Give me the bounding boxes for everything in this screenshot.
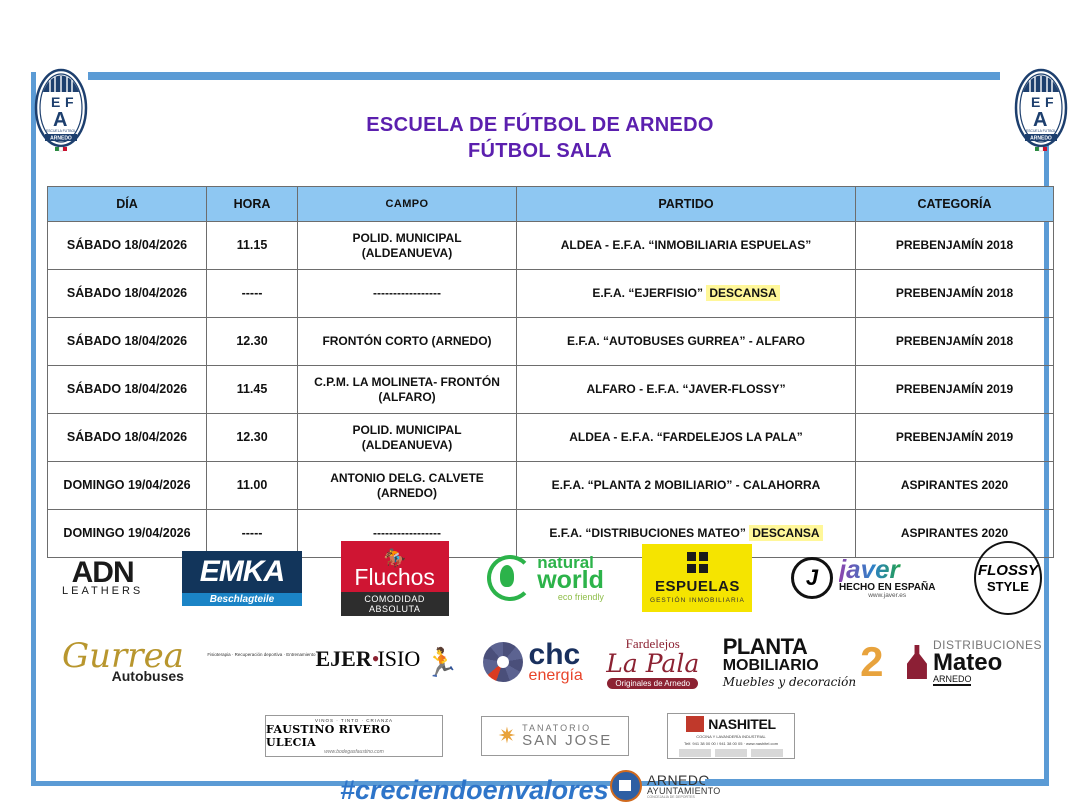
svg-text:A: A bbox=[1033, 109, 1047, 131]
table-row-1: SÁBADO 18/04/2026 11.15 POLID. MUNICIPAL… bbox=[48, 222, 1054, 270]
runner-icon: 🏃 bbox=[424, 646, 459, 679]
footprint-leaf-icon bbox=[487, 555, 533, 601]
table-row-6: DOMINGO 19/04/2026 11.00 ANTONIO DELG. C… bbox=[48, 462, 1054, 510]
column-header-partido: PARTIDO bbox=[517, 187, 856, 222]
bottom-blue-bar bbox=[705, 779, 1045, 786]
ejerfisio-services: Fisioterapia · Recuperación deportiva · … bbox=[207, 652, 315, 657]
top-blue-bar bbox=[88, 72, 1000, 80]
cell-hora: 12.30 bbox=[207, 318, 298, 366]
horse-icon: 🏇 bbox=[341, 551, 449, 565]
cell-partido: E.F.A. “AUTOBUSES GURREA” - ALFARO bbox=[517, 318, 856, 366]
sponsor-logo-distribuciones-mateo: DISTRIBUCIONES Mateo ARNEDO bbox=[907, 639, 1042, 686]
cell-hora: ----- bbox=[207, 270, 298, 318]
svg-text:ARNEDO: ARNEDO bbox=[1030, 136, 1052, 142]
fluchos-wordmark: Fluchos bbox=[341, 565, 449, 589]
flossy-wordmark: FLOSSY bbox=[978, 562, 1038, 579]
sponsor-logo-planta-2-mobiliario: PLANTA MOBILIARIO Muebles y decoración 2 bbox=[723, 636, 884, 688]
cell-campo: ----------------- bbox=[298, 270, 517, 318]
faustino-wordmark: FAUSTINO RIVERO ULECIA bbox=[266, 723, 442, 749]
ejerfisio-wordmark-b: ISIO bbox=[377, 646, 420, 671]
planta-number-2: 2 bbox=[860, 638, 883, 686]
cell-hora: 12.30 bbox=[207, 414, 298, 462]
cell-hora: 11.45 bbox=[207, 366, 298, 414]
hashtag-slogan: #creciendoenvalores bbox=[340, 775, 609, 806]
gurrea-tagline: Autobuses bbox=[112, 668, 184, 684]
sponsor-logo-ejerfisio: Fisioterapia · Recuperación deportiva · … bbox=[207, 646, 459, 679]
nashitel-wordmark: NASHITEL bbox=[708, 716, 776, 732]
sponsor-row-3: VINOS · TINTO · CRIANZA FAUSTINO RIVERO … bbox=[265, 715, 795, 757]
column-header-hora: HORA bbox=[207, 187, 298, 222]
cell-partido: E.F.A. “PLANTA 2 MOBILIARIO” - CALAHORRA bbox=[517, 462, 856, 510]
flossy-style-word: STYLE bbox=[987, 579, 1029, 594]
svg-text:F: F bbox=[1045, 94, 1054, 110]
svg-text:E: E bbox=[1031, 94, 1040, 110]
arnedo-seal-icon bbox=[610, 770, 642, 802]
table-row-3: SÁBADO 18/04/2026 12.30 FRONTÓN CORTO (A… bbox=[48, 318, 1054, 366]
sponsor-logo-tanatorio-san-jose: ✷ TANATORIO SAN JOSE bbox=[481, 716, 629, 756]
cell-partido: ALDEA - E.F.A. “FARDELEJOS LA PALA” bbox=[517, 414, 856, 462]
title-line-2: FÚTBOL SALA bbox=[140, 138, 940, 164]
javer-j-icon: J bbox=[791, 557, 833, 599]
cell-dia: DOMINGO 19/04/2026 bbox=[48, 462, 207, 510]
fluchos-mark: 🏇 Fluchos bbox=[341, 541, 449, 592]
descansa-badge: DESCANSA bbox=[749, 525, 822, 541]
mateo-arnedo-word: ARNEDO bbox=[933, 675, 972, 686]
cell-hora: 11.00 bbox=[207, 462, 298, 510]
column-header-categoria: CATEGORÍA bbox=[856, 187, 1054, 222]
sponsor-logo-flossy-style: FLOSSY STYLE bbox=[974, 541, 1042, 615]
cell-categoria: PREBENJAMÍN 2018 bbox=[856, 318, 1054, 366]
descansa-badge: DESCANSA bbox=[706, 285, 779, 301]
javer-wordmark: javer bbox=[839, 556, 936, 582]
sponsor-logo-fardelejos-la-pala: Fardelejos La Pala Originales de Arnedo bbox=[606, 636, 699, 689]
svg-text:A: A bbox=[53, 109, 67, 131]
cell-dia: SÁBADO 18/04/2026 bbox=[48, 318, 207, 366]
flower-icon bbox=[483, 642, 523, 682]
sponsor-logo-fluchos: 🏇 Fluchos COMODIDAD ABSOLUTA bbox=[341, 541, 449, 616]
cell-partido: ALFARO - E.F.A. “JAVER-FLOSSY” bbox=[517, 366, 856, 414]
svg-text:E: E bbox=[51, 94, 60, 110]
cell-campo: POLID. MUNICIPAL(ALDEANUEVA) bbox=[298, 222, 517, 270]
sponsor-logo-faustino-rivero-ulecia: VINOS · TINTO · CRIANZA FAUSTINO RIVERO … bbox=[265, 715, 443, 757]
star-icon: ✷ bbox=[498, 723, 516, 749]
page-title: ESCUELA DE FÚTBOL DE ARNEDO FÚTBOL SALA bbox=[140, 112, 940, 164]
sponsor-logo-nashitel: NASHITEL COCINA Y LAVANDERÍA INDUSTRIAL … bbox=[667, 713, 795, 759]
ejerfisio-wordmark-a: EJER bbox=[315, 646, 371, 671]
mateo-word: Mateo bbox=[933, 651, 1042, 675]
cell-categoria: PREBENJAMÍN 2018 bbox=[856, 270, 1054, 318]
cell-hora: 11.15 bbox=[207, 222, 298, 270]
sponsor-row-2: Gurrea Autobuses Fisioterapia · Recupera… bbox=[62, 622, 1042, 702]
sponsor-logo-gurrea-autobuses: Gurrea Autobuses bbox=[62, 640, 184, 684]
nashitel-mark-icon bbox=[686, 716, 704, 732]
cell-categoria: PREBENJAMÍN 2019 bbox=[856, 414, 1054, 462]
sponsor-logo-javer: J javer HECHO EN ESPAÑA www.javer.es bbox=[791, 556, 936, 600]
natural-world-tagline: eco friendly bbox=[537, 593, 604, 602]
efa-crest-icon: E F A ESCUELA FUTBOL ARNEDO bbox=[1013, 66, 1069, 154]
arnedo-tiny: CONCEJALÍA DE DEPORTES bbox=[647, 796, 721, 800]
cell-campo: ANTONIO DELG. CALVETE(ARNEDO) bbox=[298, 462, 517, 510]
espuelas-wordmark: ESPUELAS bbox=[655, 578, 740, 595]
svg-text:ESCUELA FUTBOL: ESCUELA FUTBOL bbox=[46, 129, 76, 133]
faustino-website: www.bodegasfaustino.com bbox=[324, 749, 383, 755]
table-row-4: SÁBADO 18/04/2026 11.45 C.P.M. LA MOLINE… bbox=[48, 366, 1054, 414]
cell-partido: ALDEA - E.F.A. “INMOBILIARIA ESPUELAS” bbox=[517, 222, 856, 270]
adn-wordmark: ADN bbox=[72, 559, 134, 587]
sponsor-logo-natural-world: natural world eco friendly bbox=[487, 554, 604, 602]
cell-campo: FRONTÓN CORTO (ARNEDO) bbox=[298, 318, 517, 366]
world-word: world bbox=[537, 568, 604, 593]
nashitel-brand-bar bbox=[679, 749, 783, 757]
cell-campo: C.P.M. LA MOLINETA- FRONTÓN(ALFARO) bbox=[298, 366, 517, 414]
cell-categoria: ASPIRANTES 2020 bbox=[856, 462, 1054, 510]
svg-text:ARNEDO: ARNEDO bbox=[50, 136, 72, 142]
efa-crest-icon: E F A ESCUELA FUTBOL ARNEDO bbox=[33, 66, 89, 154]
emka-tagline: Beschlagteile bbox=[182, 593, 302, 606]
four-squares-icon bbox=[687, 552, 708, 573]
nashitel-phone: Telf. 941 38 00 00 / 941 38 00 05 · www.… bbox=[684, 741, 778, 746]
table-row-5: SÁBADO 18/04/2026 12.30 POLID. MUNICIPAL… bbox=[48, 414, 1054, 462]
schedule-table: DÍA HORA CAMPO PARTIDO CATEGORÍA SÁBADO … bbox=[47, 186, 1054, 558]
sponsor-logo-espuelas: ESPUELAS GESTIÓN INMOBILIARIA bbox=[642, 544, 752, 612]
column-header-dia: DÍA bbox=[48, 187, 207, 222]
sponsor-logo-emka: EMKA Beschlagteile bbox=[182, 551, 302, 606]
cell-campo: POLID. MUNICIPAL(ALDEANUEVA) bbox=[298, 414, 517, 462]
table-header-row: DÍA HORA CAMPO PARTIDO CATEGORÍA bbox=[48, 187, 1054, 222]
sponsor-logo-chc-energia: chc energía bbox=[483, 640, 583, 684]
cell-categoria: PREBENJAMÍN 2019 bbox=[856, 366, 1054, 414]
cell-partido: E.F.A. “EJERFISIO” DESCANSA bbox=[517, 270, 856, 318]
espuelas-tagline: GESTIÓN INMOBILIARIA bbox=[650, 597, 745, 604]
svg-text:F: F bbox=[65, 94, 74, 110]
mobiliario-word: MOBILIARIO bbox=[723, 658, 856, 674]
adn-tagline: LEATHERS bbox=[62, 585, 143, 597]
bottle-icon bbox=[907, 645, 927, 679]
cell-dia: SÁBADO 18/04/2026 bbox=[48, 222, 207, 270]
table-row-2: SÁBADO 18/04/2026 ----- ----------------… bbox=[48, 270, 1054, 318]
title-line-1: ESCUELA DE FÚTBOL DE ARNEDO bbox=[140, 112, 940, 138]
sponsor-row-1: ADN LEATHERS EMKA Beschlagteile 🏇 Flucho… bbox=[62, 541, 1042, 615]
javer-website: www.javer.es bbox=[839, 593, 936, 600]
nashitel-tagline: COCINA Y LAVANDERÍA INDUSTRIAL bbox=[696, 734, 766, 739]
san-jose-word: SAN JOSE bbox=[522, 733, 612, 748]
chc-tagline: energía bbox=[529, 668, 583, 684]
cell-dia: SÁBADO 18/04/2026 bbox=[48, 270, 207, 318]
planta-tagline: Muebles y decoración bbox=[723, 676, 856, 688]
fluchos-tagline: COMODIDAD ABSOLUTA bbox=[341, 592, 449, 616]
cell-categoria: PREBENJAMÍN 2018 bbox=[856, 222, 1054, 270]
cell-dia: SÁBADO 18/04/2026 bbox=[48, 366, 207, 414]
svg-text:ESCUELA FUTBOL: ESCUELA FUTBOL bbox=[1026, 129, 1056, 133]
emka-wordmark: EMKA bbox=[182, 551, 302, 593]
cell-dia: SÁBADO 18/04/2026 bbox=[48, 414, 207, 462]
arnedo-city-council-logo: ARNEDO AYUNTAMIENTO CONCEJALÍA DE DEPORT… bbox=[610, 770, 721, 802]
sponsor-logo-adn-leathers: ADN LEATHERS bbox=[62, 559, 143, 597]
planta-word: PLANTA bbox=[723, 636, 856, 658]
fardelejos-tagline: Originales de Arnedo bbox=[607, 678, 698, 689]
la-pala-word: La Pala bbox=[606, 652, 699, 676]
column-header-campo: CAMPO bbox=[298, 187, 517, 222]
chc-wordmark: chc bbox=[529, 640, 583, 670]
